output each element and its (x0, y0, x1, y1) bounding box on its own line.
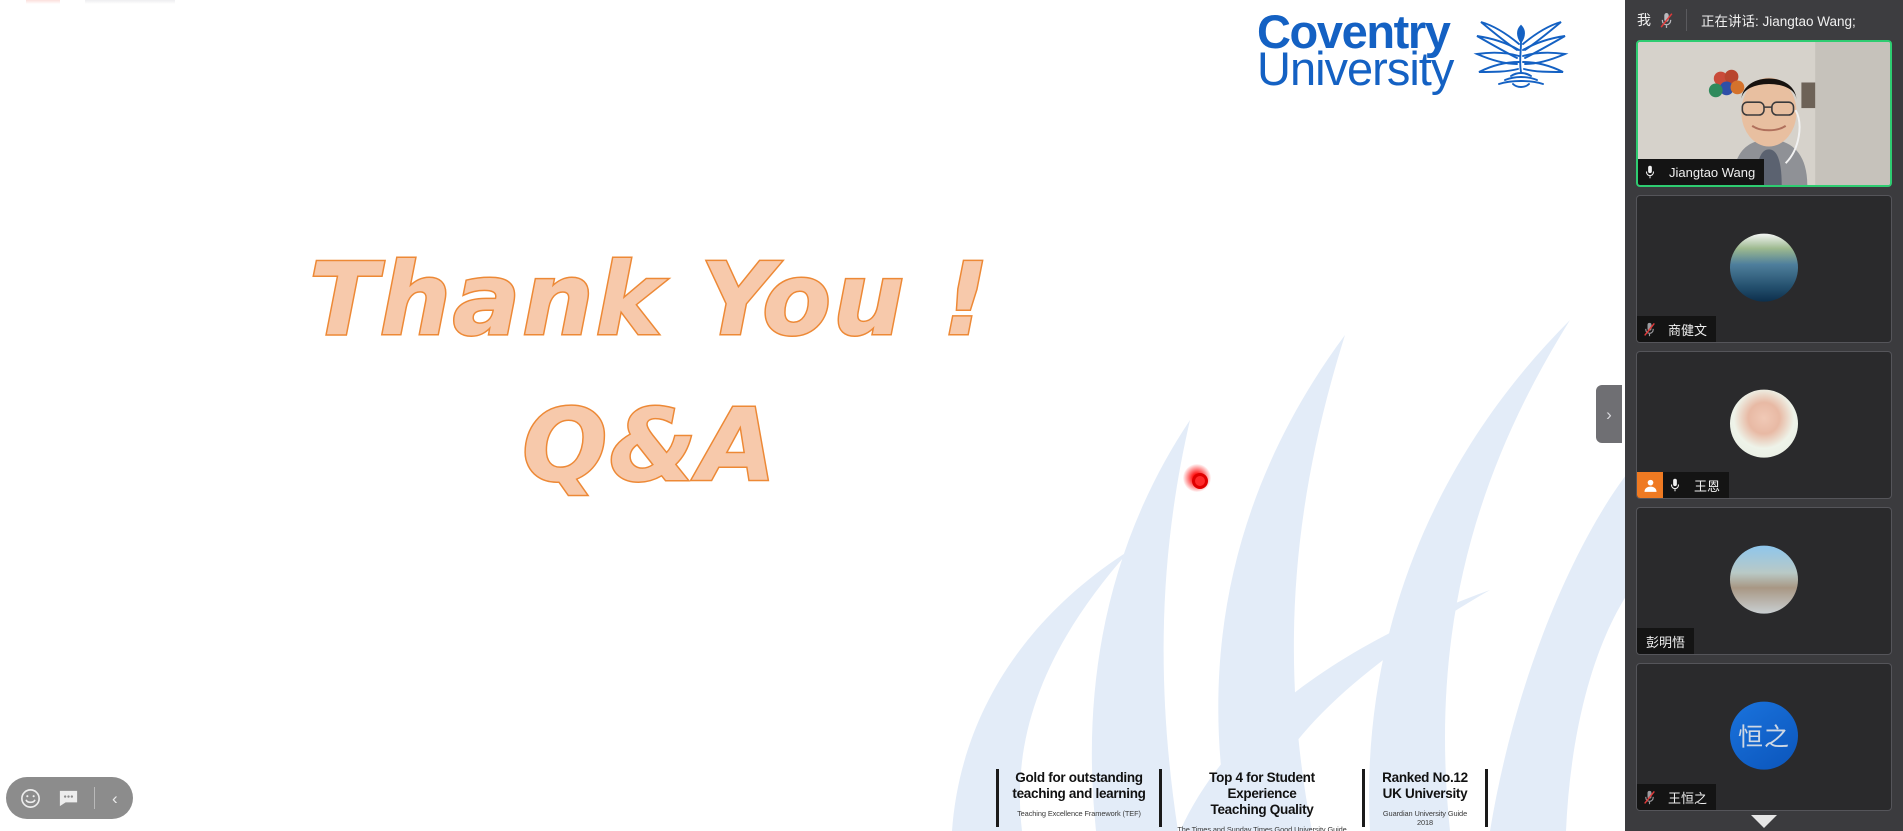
participant-tile-shangjianwen[interactable]: 商健文 (1636, 195, 1892, 343)
phoenix-emblem-icon (1471, 14, 1571, 94)
participant-tile-wanghengzhi[interactable]: 恒之 王恒之 (1636, 663, 1892, 811)
participant-name: Jiangtao Wang (1662, 165, 1755, 180)
mic-unmuted-icon (1638, 164, 1662, 180)
banner-divider (1485, 769, 1488, 827)
coventry-university-logo: Coventry University (1257, 8, 1567, 96)
accolade-headline-line1: Ranked No.12 (1377, 770, 1473, 786)
participant-tile-list: Jiangtao Wang (1625, 40, 1903, 831)
accolade-source: The Times and Sunday Times Good Universi… (1174, 825, 1350, 831)
accolade-headline-line2: UK University (1377, 786, 1473, 802)
mic-unmuted-icon (1663, 477, 1687, 493)
chevron-down-icon[interactable] (1751, 815, 1777, 828)
floating-reaction-toolbar[interactable]: ‹ (6, 777, 133, 819)
active-speaker-status: 正在讲话: Jiangtao Wang; (1687, 10, 1856, 30)
accolades-banner: Gold for outstanding teaching and learni… (996, 765, 1564, 831)
participant-name: 王恩 (1687, 476, 1720, 495)
shared-screen-slide: Coventry University (0, 0, 1630, 831)
chat-bubble-icon[interactable] (56, 786, 80, 810)
mic-muted-icon (1637, 321, 1661, 338)
participant-badge: 彭明悟 (1637, 628, 1694, 654)
participant-name: 彭明悟 (1637, 632, 1685, 651)
avatar-initials: 恒之 (1738, 718, 1790, 754)
participants-video-panel: 我 正在讲话: Jiangtao Wang; (1625, 0, 1903, 831)
slide-subtitle: Q&A (0, 396, 1300, 496)
accolade-item: Top 4 for Student Experience Teaching Qu… (1162, 765, 1362, 831)
laser-pointer-dot (1183, 464, 1211, 492)
smiley-icon[interactable] (18, 786, 42, 810)
collapse-toolbar-button[interactable]: ‹ (109, 790, 121, 807)
accolade-headline-line1: Top 4 for Student Experience (1174, 770, 1350, 802)
participant-tile-pengmingwu[interactable]: 彭明悟 (1636, 507, 1892, 655)
self-audio-chip[interactable]: 我 (1625, 0, 1686, 40)
participant-badge: 王恩 (1637, 472, 1729, 498)
collapse-video-panel-button[interactable]: › (1596, 385, 1622, 443)
avatar: 恒之 (1730, 702, 1798, 770)
participant-tile-wangen[interactable]: 王恩 (1636, 351, 1892, 499)
panel-header-bar: 我 正在讲话: Jiangtao Wang; (1625, 0, 1903, 40)
zoom-meeting-screen: Coventry University (0, 0, 1903, 831)
participant-badge: Jiangtao Wang (1638, 159, 1764, 185)
logo-wordmark: Coventry University (1257, 10, 1453, 90)
mic-muted-icon[interactable] (1657, 11, 1676, 30)
accolade-item: Gold for outstanding teaching and learni… (999, 765, 1159, 831)
participant-badge: 商健文 (1637, 316, 1716, 342)
logo-line-university: University (1257, 47, 1453, 90)
accolade-headline-line1: Gold for outstanding (1011, 770, 1147, 786)
slide-title-block: Thank You ! Q&A (0, 250, 1300, 496)
mic-muted-icon (1637, 789, 1661, 806)
avatar (1730, 390, 1798, 458)
top-edge-artifact (85, 0, 175, 4)
participant-tile-jiangtao-wang[interactable]: Jiangtao Wang (1636, 40, 1892, 187)
accolade-source: Guardian University Guide 2018 (1377, 809, 1473, 827)
top-edge-artifact (26, 0, 60, 4)
self-label: 我 (1637, 10, 1651, 30)
chevron-right-icon: › (1606, 406, 1612, 423)
participant-badge: 王恒之 (1637, 784, 1716, 810)
avatar (1730, 234, 1798, 302)
accolade-headline-line2: teaching and learning (1011, 786, 1147, 802)
page-title: Thank You ! (0, 250, 1300, 350)
avatar (1730, 546, 1798, 614)
accolade-headline-line2: Teaching Quality (1174, 802, 1350, 818)
participant-name: 王恒之 (1661, 788, 1707, 807)
accolade-source: Teaching Excellence Framework (TEF) (1011, 809, 1147, 818)
host-badge-icon (1637, 472, 1663, 498)
participant-name: 商健文 (1661, 320, 1707, 339)
toolbar-divider (94, 787, 95, 809)
accolade-item: Ranked No.12 UK University Guardian Univ… (1365, 765, 1485, 831)
